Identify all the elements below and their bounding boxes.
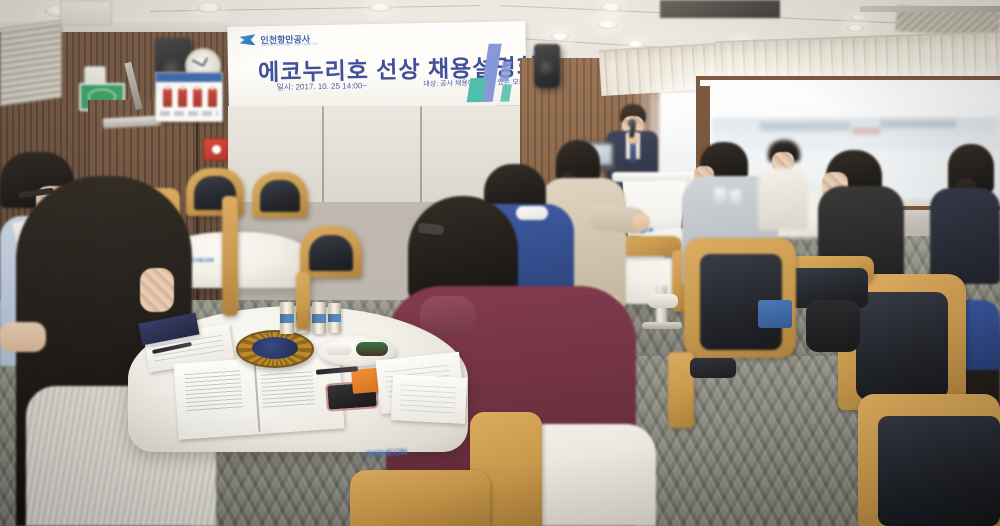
chair-back-3-pad [309, 235, 353, 271]
ceiling-ac-trim [860, 6, 1000, 12]
wall-panel-divider [420, 106, 422, 202]
drinking-glass [730, 190, 741, 205]
ceiling-downlight [196, 2, 222, 13]
ceiling-downlight [846, 24, 864, 32]
chair-leg [222, 196, 238, 316]
wall-speaker-right [534, 44, 560, 88]
chair-leg [296, 272, 310, 330]
safety-poster [155, 72, 223, 122]
ceiling-downlight [850, 14, 867, 21]
attendee-body-far [758, 168, 808, 230]
attendee-collar-maroon-coat [420, 296, 476, 336]
tote-bag [758, 300, 792, 328]
table-foot [642, 322, 682, 329]
air-vent [0, 20, 62, 107]
shoe [648, 294, 678, 308]
snack-dark [356, 342, 388, 356]
fire-alarm-box[interactable] [203, 138, 229, 161]
drinking-glass [714, 188, 726, 204]
chair-front-right-pad [856, 292, 948, 400]
banner-org-subname: INCHEON PORT AUTHORITY [261, 42, 319, 47]
bag [806, 300, 860, 352]
conference-room-photo: 인천항만공사 INCHEON PORT AUTHORITY 에코누리호 선상 채… [0, 0, 1000, 526]
harbor-ship [880, 120, 956, 128]
chair-front-right-2-pad [878, 416, 1000, 526]
attendee-hand-left [0, 322, 46, 352]
beverage-can[interactable] [312, 302, 326, 334]
ipa-logo-icon [239, 34, 255, 45]
bag [690, 358, 736, 378]
attendee-body-ponytail [930, 188, 1000, 284]
ceiling-downlight [596, 20, 618, 29]
attendee-hand [632, 214, 650, 230]
ceiling-downlight [368, 2, 392, 12]
banner-subtitle-date: 일시: 2017. 10. 25 14:00~ [276, 80, 367, 93]
wall-panel-divider [322, 106, 324, 202]
chair-back-2-pad [260, 180, 300, 212]
beverage-can[interactable] [280, 302, 294, 334]
ceiling-downlight [600, 2, 622, 12]
microphone-head [628, 119, 636, 127]
cookie-tin[interactable] [236, 330, 314, 368]
ceiling-downlight [550, 32, 570, 41]
harbor-ship [760, 122, 850, 131]
harbor-marker [852, 128, 880, 134]
documents[interactable] [391, 374, 467, 424]
overhead-sign [60, 0, 112, 26]
attendee-collar-blue-sweater [516, 206, 548, 220]
snack-white [326, 343, 352, 355]
chair-front-left[interactable] [350, 470, 490, 526]
event-banner: 인천항만공사 INCHEON PORT AUTHORITY 에코누리호 선상 채… [227, 21, 527, 111]
beverage-can[interactable] [328, 303, 341, 333]
attendee-face-blurred [140, 268, 174, 312]
ceiling-ac-unit [660, 0, 780, 18]
